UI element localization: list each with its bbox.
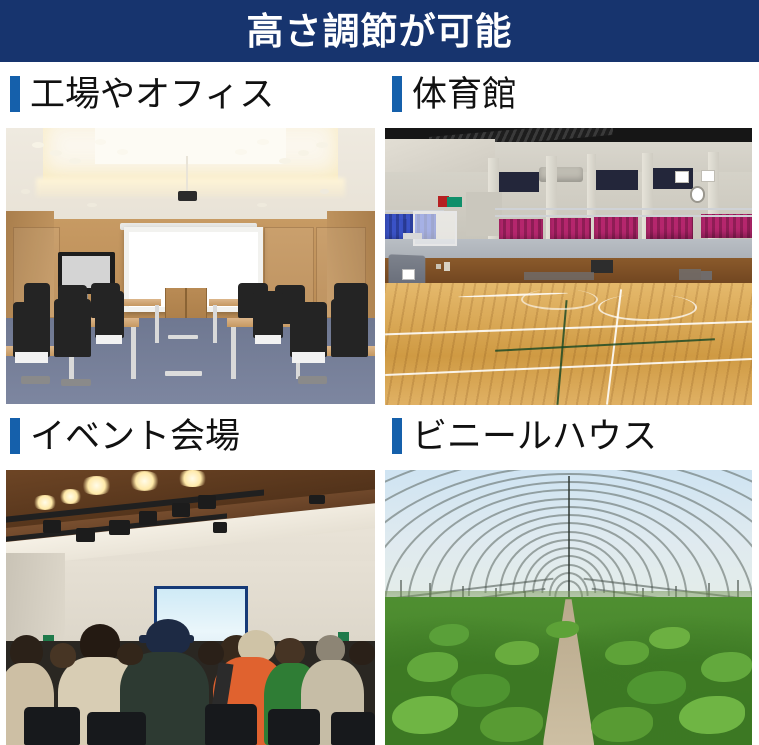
page-title: 高さ調節が可能 (247, 13, 513, 50)
wall-clock-icon (690, 186, 706, 203)
section-label-event-hall: イベント会場 (10, 416, 240, 456)
photo-greenhouse (385, 470, 752, 745)
accent-bar-icon (392, 76, 402, 112)
scene-gymnasium (385, 128, 752, 405)
stage-spotlight-icon (109, 520, 129, 535)
stage-spotlight-icon (198, 495, 216, 509)
greenhouse-center-wire (568, 476, 570, 597)
section-label-text: 体育館 (412, 77, 517, 112)
photo-factory-office (6, 128, 375, 404)
section-label-text: ビニールハウス (412, 419, 657, 454)
stage-spotlight-icon (172, 503, 190, 517)
stage-spotlight-icon (76, 528, 94, 542)
scene-greenhouse (385, 470, 752, 745)
stage-spotlight-icon (43, 520, 61, 534)
section-label-text: イベント会場 (30, 419, 240, 454)
accent-bar-icon (392, 418, 402, 454)
section-label-greenhouse: ビニールハウス (392, 416, 657, 456)
photo-event-hall (6, 470, 375, 745)
promo-page: 高さ調節が可能 工場やオフィス 体育館 イベント会場 ビニールハウス (0, 0, 759, 745)
accent-bar-icon (10, 76, 20, 112)
scene-event-hall (6, 470, 375, 745)
accent-bar-icon (10, 418, 20, 454)
basketball-backboard (413, 211, 457, 245)
photo-gymnasium (385, 128, 752, 405)
exit-sign-icon (447, 197, 462, 206)
ceiling-projector-icon (178, 191, 197, 201)
section-label-text: 工場やオフィス (30, 77, 274, 112)
scene-conference-room (6, 128, 375, 404)
section-label-factory-office: 工場やオフィス (10, 74, 274, 114)
stage-spotlight-icon (139, 511, 157, 525)
section-label-gymnasium: 体育館 (392, 74, 517, 114)
header-banner: 高さ調節が可能 (0, 0, 759, 62)
